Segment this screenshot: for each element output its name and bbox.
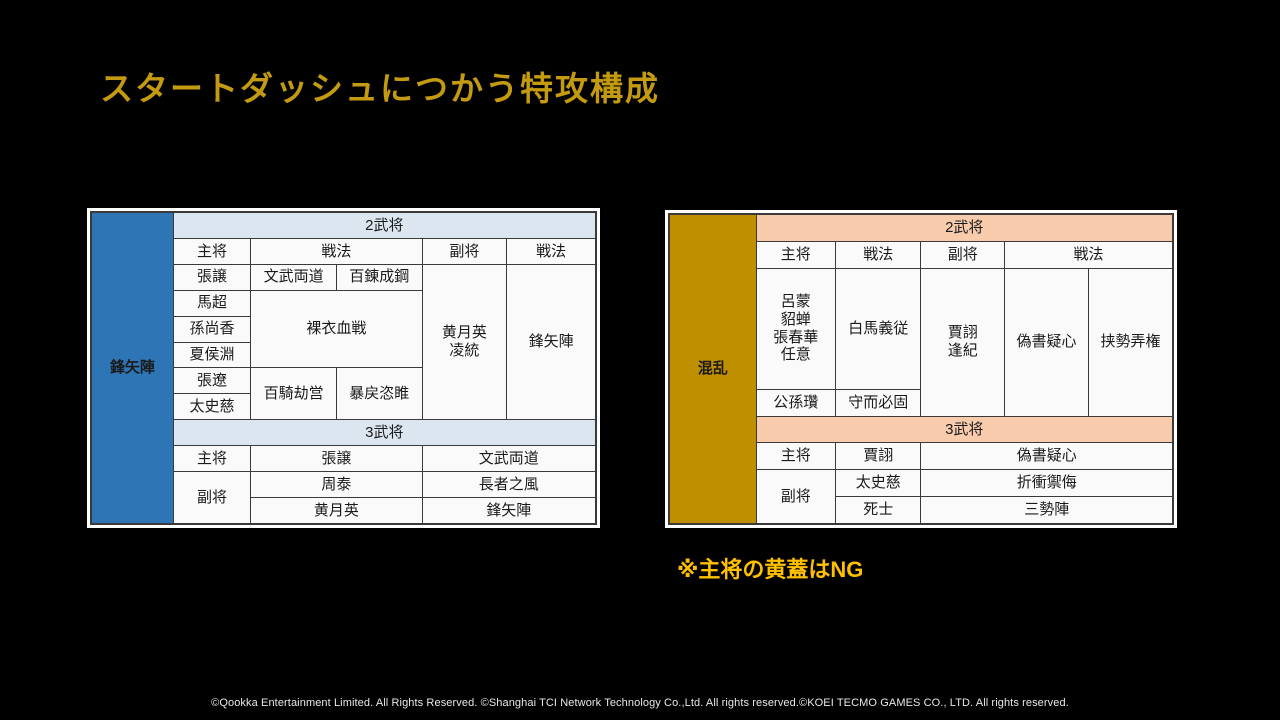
left-sub-tactic: 鋒矢陣: [507, 264, 596, 419]
right-header-tactics2: 戦法: [1004, 241, 1172, 268]
left3-tactic-2: 鋒矢陣: [422, 497, 595, 523]
right-header-tactics1: 戦法: [835, 241, 921, 268]
left-main-6: 太史慈: [173, 394, 251, 420]
left3-tactic-1: 長者之風: [422, 472, 595, 498]
left-header-tactics1: 戦法: [251, 238, 422, 264]
left-sub-names: 黄月英 凌統: [422, 264, 507, 419]
note-warning: ※主将の黄蓋はNG: [677, 552, 863, 584]
right3-name-2: 死士: [835, 497, 921, 524]
left-tactic-1a: 文武両道: [251, 264, 337, 290]
footer-bar: ©Qookka Entertainment Limited. All Right…: [0, 686, 1280, 720]
left-main-5: 張遼: [173, 368, 251, 394]
left-main-2: 馬超: [173, 290, 251, 316]
left-tactic-1b: 百錬成鋼: [336, 264, 422, 290]
left-header-tactics2: 戦法: [507, 238, 596, 264]
right-sub-tactic-b: 挟勢弄権: [1088, 268, 1172, 416]
formation-table-left: 鋒矢陣 2武将 主将 戦法 副将 戦法 張譲 文武両道 百錬成鋼 黄月英 凌統 …: [87, 208, 600, 528]
right-extra-tactic: 守而必固: [835, 389, 921, 416]
left-grid: 鋒矢陣 2武将 主将 戦法 副将 戦法 張譲 文武両道 百錬成鋼 黄月英 凌統 …: [91, 212, 596, 524]
right3-role-1: 副将: [756, 470, 835, 524]
right-sub-tactic-a: 偽書疑心: [1004, 268, 1088, 416]
left-band-2: 2武将: [173, 213, 595, 239]
copyright-text: ©Qookka Entertainment Limited. All Right…: [211, 697, 1069, 709]
left-tactic-234: 裸衣血戦: [251, 290, 422, 368]
left-band-3: 3武将: [173, 420, 595, 446]
right3-tactic-2: 三勢陣: [921, 497, 1173, 524]
right3-name-1: 太史慈: [835, 470, 921, 497]
right-formation-label: 混乱: [670, 215, 757, 524]
right3-role-0: 主将: [756, 443, 835, 470]
right3-tactic-0: 偽書疑心: [921, 443, 1173, 470]
right-sub-names: 賈詡 逢紀: [921, 268, 1004, 416]
left3-role-1: 副将: [173, 472, 251, 524]
left-tactic-56a: 百騎劫営: [251, 368, 337, 420]
left3-name-1: 周泰: [251, 472, 422, 498]
page-title: スタートダッシュにつかう特攻構成: [100, 62, 660, 110]
left-tactic-56b: 暴戻恣睢: [336, 368, 422, 420]
right-band-3: 3武将: [756, 416, 1172, 443]
right3-name-0: 賈詡: [835, 443, 921, 470]
formation-table-right: 混乱 2武将 主将 戦法 副将 戦法 呂蒙 貂蝉 張春華 任意 白馬義従 賈詡 …: [665, 210, 1177, 528]
table-row: 混乱 2武将: [670, 215, 1173, 242]
left-header-sub: 副将: [422, 238, 507, 264]
left3-tactic-0: 文武両道: [422, 446, 595, 472]
right-header-main: 主将: [756, 241, 835, 268]
left3-role-0: 主将: [173, 446, 251, 472]
right-grid: 混乱 2武将 主将 戦法 副将 戦法 呂蒙 貂蝉 張春華 任意 白馬義従 賈詡 …: [669, 214, 1173, 524]
left-main-3: 孫尚香: [173, 316, 251, 342]
left-main-4: 夏侯淵: [173, 342, 251, 368]
right-header-sub: 副将: [921, 241, 1004, 268]
right-extra-main: 公孫瓚: [756, 389, 835, 416]
right-main-names: 呂蒙 貂蝉 張春華 任意: [756, 268, 835, 389]
right-main-tactic: 白馬義従: [835, 268, 921, 389]
table-row: 鋒矢陣 2武将: [92, 213, 596, 239]
left3-name-2: 黄月英: [251, 497, 422, 523]
right-band-2: 2武将: [756, 215, 1172, 242]
left-header-main: 主将: [173, 238, 251, 264]
left3-name-0: 張譲: [251, 446, 422, 472]
right3-tactic-1: 折衝禦侮: [921, 470, 1173, 497]
left-formation-label: 鋒矢陣: [92, 213, 174, 524]
left-main-1: 張譲: [173, 264, 251, 290]
